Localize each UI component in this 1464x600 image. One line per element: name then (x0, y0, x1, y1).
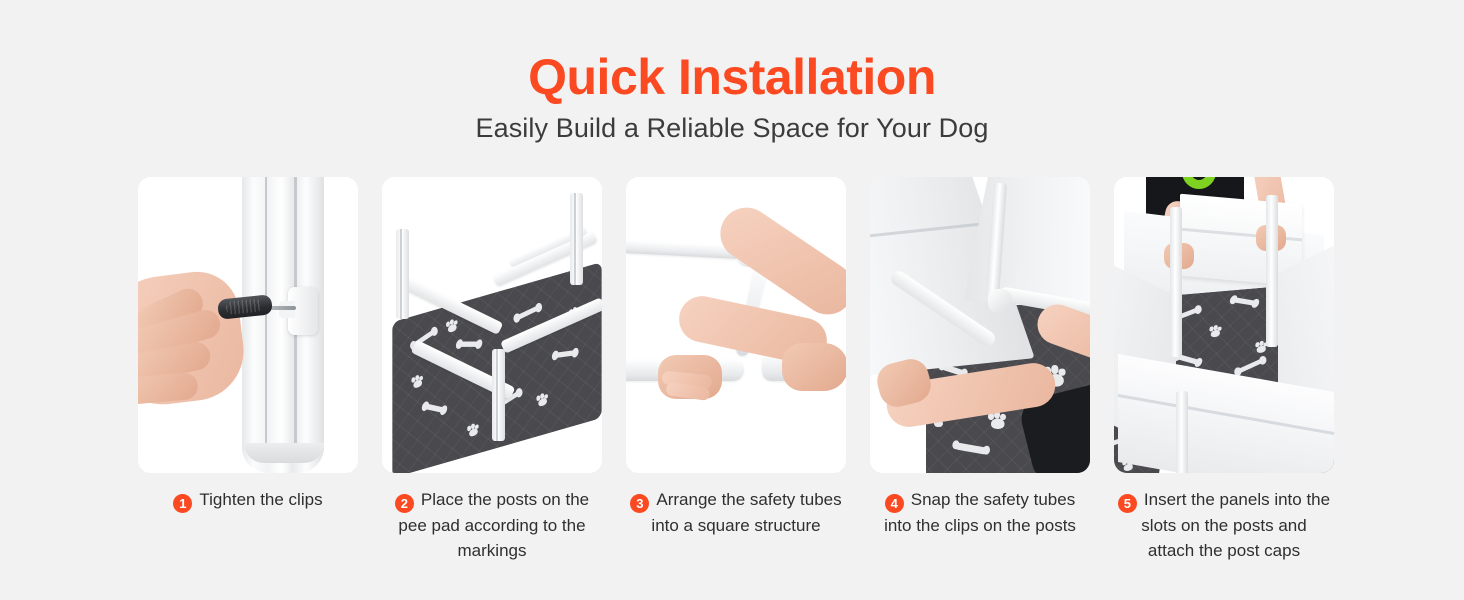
post-illustration (492, 349, 505, 441)
step-3-card (626, 177, 846, 473)
step-3-number-badge: 3 (630, 494, 649, 513)
step-2-caption: 2Place the posts on the pee pad accordin… (382, 487, 602, 563)
step-1: 1Tighten the clips (138, 177, 358, 563)
step-2-card (382, 177, 602, 473)
step-4-caption: 4Snap the safety tubes into the clips on… (870, 487, 1090, 538)
steps-row: 1Tighten the clips (138, 177, 1338, 563)
step-4-number-badge: 4 (885, 494, 904, 513)
step-3-image (626, 177, 846, 473)
step-2-number-badge: 2 (395, 494, 414, 513)
step-3: 3Arrange the safety tubes into a square … (626, 177, 846, 563)
step-2-caption-text: Place the posts on the pee pad according… (398, 490, 589, 560)
step-5-card (1114, 177, 1334, 473)
step-5-number-badge: 5 (1118, 494, 1137, 513)
header: Quick Installation Easily Build a Reliab… (0, 0, 1464, 144)
step-5-image (1114, 177, 1334, 473)
step-5-caption-text: Insert the panels into the slots on the … (1141, 490, 1330, 560)
step-5-caption: 5Insert the panels into the slots on the… (1114, 487, 1334, 563)
screw-illustration (268, 306, 296, 310)
side-panel-illustration (964, 177, 1090, 306)
step-5: 5Insert the panels into the slots on the… (1114, 177, 1334, 563)
quick-installation-banner: Quick Installation Easily Build a Reliab… (0, 0, 1464, 600)
post-illustration (1266, 195, 1278, 347)
step-1-caption-text: Tighten the clips (199, 490, 322, 509)
hand-illustration (782, 343, 846, 391)
page-title: Quick Installation (0, 0, 1464, 104)
step-1-number-badge: 1 (173, 494, 192, 513)
post-illustration (396, 229, 409, 319)
post-illustration (570, 193, 583, 285)
step-3-caption: 3Arrange the safety tubes into a square … (626, 487, 846, 538)
page-subtitle: Easily Build a Reliable Space for Your D… (0, 104, 1464, 144)
post-base-illustration (244, 443, 324, 463)
step-3-caption-text: Arrange the safety tubes into a square s… (651, 490, 841, 535)
step-2-image (382, 177, 602, 473)
step-1-image (138, 177, 358, 473)
hand-illustration (138, 267, 249, 411)
post-illustration (1176, 391, 1188, 473)
step-4-image (870, 177, 1090, 473)
step-1-card (138, 177, 358, 473)
step-2: 2Place the posts on the pee pad accordin… (382, 177, 602, 563)
post-illustration (1170, 207, 1182, 357)
step-1-caption: 1Tighten the clips (138, 487, 358, 513)
finger-illustration (138, 372, 199, 406)
step-4-card (870, 177, 1090, 473)
step-4-caption-text: Snap the safety tubes into the clips on … (884, 490, 1076, 535)
step-4: 4Snap the safety tubes into the clips on… (870, 177, 1090, 563)
tube-joint-illustration (988, 289, 1012, 313)
clip-illustration (288, 287, 318, 335)
